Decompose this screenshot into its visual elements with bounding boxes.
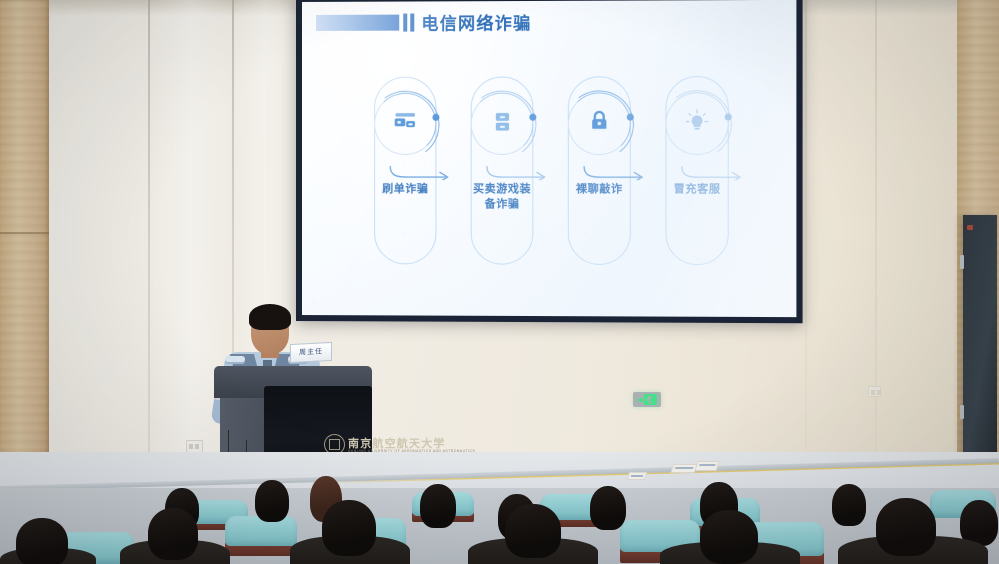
projection-screen: 电信网络诈骗 (302, 0, 796, 317)
emergency-exit-sign (633, 392, 661, 407)
wall-panel-seam (875, 0, 877, 450)
projection-screen-frame: 电信网络诈骗 (296, 0, 803, 323)
rack-latch (960, 255, 964, 269)
lecture-hall-screenshot: 电信网络诈骗 (0, 0, 999, 564)
wood-wall-panel-left (0, 0, 49, 520)
audience-person-head (505, 504, 561, 558)
audience-person-head (255, 480, 289, 522)
screen-glare (302, 0, 796, 317)
speaker-nameplate: 周主任 (290, 342, 332, 363)
wall-panel-seam (148, 0, 150, 500)
audience-person-head (148, 508, 198, 560)
equipment-rack (963, 215, 997, 458)
rack-power-led (967, 225, 973, 230)
epaulette-left (225, 356, 245, 364)
audience-person-head (590, 486, 626, 530)
wall-panel-seam (805, 0, 807, 450)
audience-person-head (832, 484, 866, 526)
audience-person-head (16, 518, 68, 564)
speaker-name-text: 周主任 (291, 343, 331, 362)
running-person-icon (644, 394, 657, 405)
officer-hair (249, 304, 291, 330)
audience-area (0, 470, 999, 564)
wall-socket (868, 386, 881, 397)
rack-latch (960, 405, 964, 419)
audience-seat (225, 516, 297, 546)
exit-arrow-icon (637, 397, 643, 403)
audience-person-head (420, 484, 456, 528)
wood-panel-seam (0, 232, 49, 234)
audience-person-head (700, 510, 758, 564)
audience-person-head (876, 498, 936, 556)
audience-person-head (322, 500, 376, 556)
